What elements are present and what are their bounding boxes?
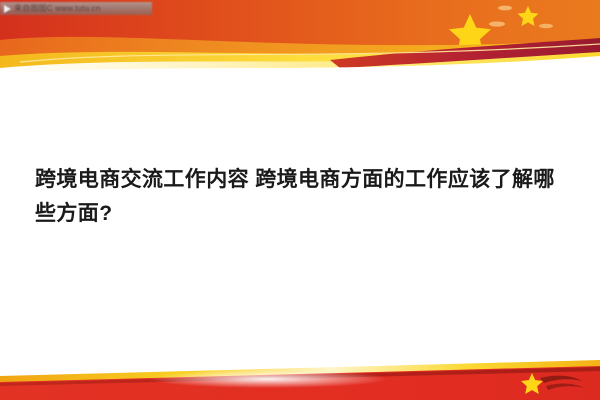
play-triangle-icon (4, 5, 11, 13)
star-icon (498, 6, 512, 11)
decorative-top-banner: 来自图图C www.tutu.cn (0, 0, 600, 80)
star-icon (489, 21, 505, 26)
decorative-bottom-banner (0, 352, 600, 400)
bottom-wave-glow (148, 370, 388, 388)
watermark-text: 来自图图C www.tutu.cn (14, 4, 101, 13)
watermark-bar: 来自图图C www.tutu.cn (0, 2, 152, 15)
bottom-banner-graphic (0, 352, 600, 400)
page-root: 来自图图C www.tutu.cn 跨境电商交流工作内容 跨境电商方面的工作应该… (0, 0, 600, 400)
page-title: 跨境电商交流工作内容 跨境电商方面的工作应该了解哪些方面? (35, 163, 565, 231)
star-icon (539, 24, 553, 29)
main-content-area: 跨境电商交流工作内容 跨境电商方面的工作应该了解哪些方面? (0, 80, 600, 355)
